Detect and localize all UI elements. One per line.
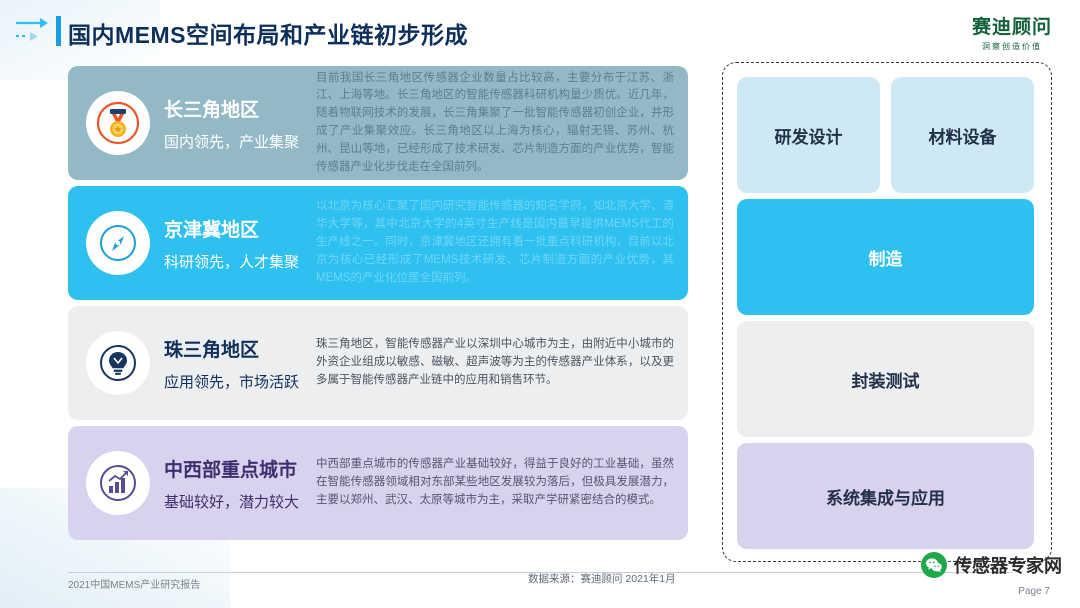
region-description: 目前我国长三角地区传感器企业数量占比较高，主要分布于江苏、浙江、上海等地。长三角… — [316, 70, 688, 177]
page-number: Page 7 — [1018, 586, 1050, 597]
region-subtitle: 应用领先，市场活跃 — [164, 371, 316, 392]
page-title: 国内MEMS空间布局和产业链初步形成 — [68, 16, 468, 50]
flow-box-rd[interactable]: 研发设计 — [737, 77, 880, 193]
watermark: 传感器专家网 — [921, 552, 1062, 578]
region-subtitle: 科研领先，人才集聚 — [164, 251, 316, 272]
region-description: 以北京为核心汇聚了国内研究智能传感器的知名学府，如北京大学、清华大学等，其中北京… — [316, 198, 688, 287]
flow-box-manufacturing[interactable]: 制造 — [737, 199, 1034, 315]
region-title: 珠三角地区 — [164, 335, 316, 362]
slide: 国内MEMS空间布局和产业链初步形成 赛迪顾问 洞察创造价值 长三角地区 — [0, 0, 1080, 608]
brand-logo-sub: 洞察创造价值 — [972, 41, 1052, 52]
compass-icon — [86, 211, 150, 275]
lightbulb-icon — [86, 331, 150, 395]
slide-header: 国内MEMS空间布局和产业链初步形成 赛迪顾问 洞察创造价值 — [0, 0, 1080, 60]
region-subtitle: 国内领先，产业集聚 — [164, 131, 316, 152]
bar-chart-arrow-icon — [86, 451, 150, 515]
region-title: 京津冀地区 — [164, 215, 316, 242]
region-subtitle: 基础较好，潜力较大 — [164, 491, 316, 512]
value-chain-diagram: 研发设计 材料设备 制造 封装测试 系统集成与应用 — [722, 62, 1052, 562]
region-card-pearl[interactable]: 珠三角地区 应用领先，市场活跃 珠三角地区，智能传感器产业以深圳中心城市为主，由… — [68, 306, 688, 420]
flow-box-system-integration[interactable]: 系统集成与应用 — [737, 443, 1034, 549]
region-title: 长三角地区 — [164, 95, 316, 122]
double-arrow-icon — [14, 14, 56, 48]
region-description: 中西部重点城市的传感器产业基础较好，得益于良好的工业基础，虽然在智能传感器领域相… — [316, 456, 688, 509]
brand-logo-main: 赛迪顾问 — [972, 12, 1052, 39]
title-accent-bar — [56, 16, 61, 46]
region-card-head: 长三角地区 国内领先，产业集聚 — [164, 95, 316, 152]
brand-logo: 赛迪顾问 洞察创造价值 — [972, 12, 1052, 52]
region-card-central-west[interactable]: 中西部重点城市 基础较好，潜力较大 中西部重点城市的传感器产业基础较好，得益于良… — [68, 426, 688, 540]
region-card-list: 长三角地区 国内领先，产业集聚 目前我国长三角地区传感器企业数量占比较高，主要分… — [68, 66, 688, 546]
wechat-icon — [921, 552, 947, 578]
region-title: 中西部重点城市 — [164, 455, 316, 482]
region-card-jingjinji[interactable]: 京津冀地区 科研领先，人才集聚 以北京为核心汇聚了国内研究智能传感器的知名学府，… — [68, 186, 688, 300]
flow-box-packaging-test[interactable]: 封装测试 — [737, 321, 1034, 437]
footer-report-name: 2021中国MEMS产业研究报告 — [68, 576, 200, 591]
region-card-head: 珠三角地区 应用领先，市场活跃 — [164, 335, 316, 392]
data-source-note: 数据来源：赛迪顾问 2021年1月 — [528, 571, 676, 586]
flow-box-materials[interactable]: 材料设备 — [891, 77, 1034, 193]
medal-icon — [86, 91, 150, 155]
watermark-text: 传感器专家网 — [954, 552, 1062, 578]
region-card-yangtze[interactable]: 长三角地区 国内领先，产业集聚 目前我国长三角地区传感器企业数量占比较高，主要分… — [68, 66, 688, 180]
region-description: 珠三角地区，智能传感器产业以深圳中心城市为主，由附近中小城市的外资企业组成以敏感… — [316, 336, 688, 389]
region-card-head: 中西部重点城市 基础较好，潜力较大 — [164, 455, 316, 512]
region-card-head: 京津冀地区 科研领先，人才集聚 — [164, 215, 316, 272]
